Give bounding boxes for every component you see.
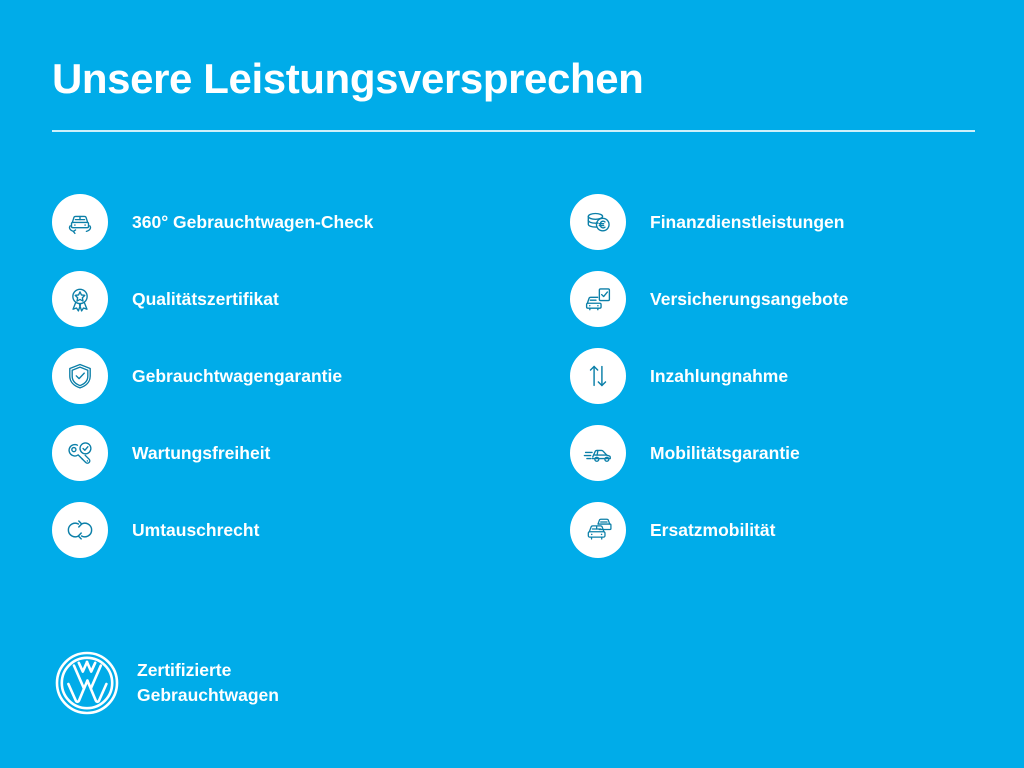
exchange-arrows-icon bbox=[52, 502, 108, 558]
benefit-label: Wartungsfreiheit bbox=[132, 443, 270, 464]
two-cars-icon bbox=[570, 502, 626, 558]
benefits-grid: 360° Gebrauchtwagen-Check Qualitätszerti… bbox=[0, 194, 1024, 558]
benefit-item[interactable]: Wartungsfreiheit bbox=[52, 425, 522, 481]
benefit-label: Gebrauchtwagengarantie bbox=[132, 366, 342, 387]
benefit-item[interactable]: Gebrauchtwagengarantie bbox=[52, 348, 522, 404]
benefit-item[interactable]: Versicherungsangebote bbox=[570, 271, 1000, 327]
benefit-item[interactable]: 360° Gebrauchtwagen-Check bbox=[52, 194, 522, 250]
benefit-label: Finanzdienstleistungen bbox=[650, 212, 844, 233]
shield-check-icon bbox=[52, 348, 108, 404]
benefit-label: Versicherungsangebote bbox=[650, 289, 848, 310]
benefit-label: Ersatzmobilität bbox=[650, 520, 775, 541]
brand-lockup: Zertifizierte Gebrauchtwagen bbox=[52, 648, 279, 718]
benefit-label: 360° Gebrauchtwagen-Check bbox=[132, 212, 373, 233]
benefits-right-column: Finanzdienstleistungen bbox=[570, 194, 1000, 558]
benefit-label: Umtauschrecht bbox=[132, 520, 259, 541]
coins-euro-icon bbox=[570, 194, 626, 250]
benefit-item[interactable]: Umtauschrecht bbox=[52, 502, 522, 558]
brand-text: Zertifizierte Gebrauchtwagen bbox=[137, 658, 279, 709]
benefit-item[interactable]: Finanzdienstleistungen bbox=[570, 194, 1000, 250]
arrows-up-down-icon bbox=[570, 348, 626, 404]
benefits-left-column: 360° Gebrauchtwagen-Check Qualitätszerti… bbox=[52, 194, 522, 558]
benefit-item[interactable]: Inzahlungnahme bbox=[570, 348, 1000, 404]
title-divider bbox=[52, 130, 975, 132]
benefit-item[interactable]: Ersatzmobilität bbox=[570, 502, 1000, 558]
car-360-check-icon bbox=[52, 194, 108, 250]
car-document-check-icon bbox=[570, 271, 626, 327]
promise-poster: Unsere Leistungsversprechen bbox=[0, 0, 1024, 768]
brand-text-line2: Gebrauchtwagen bbox=[137, 683, 279, 708]
award-ribbon-star-icon bbox=[52, 271, 108, 327]
benefit-item[interactable]: Qualitätszertifikat bbox=[52, 271, 522, 327]
page-title: Unsere Leistungsversprechen bbox=[52, 56, 643, 101]
volkswagen-logo bbox=[52, 648, 122, 718]
benefit-item[interactable]: Mobilitätsgarantie bbox=[570, 425, 1000, 481]
benefit-label: Inzahlungnahme bbox=[650, 366, 788, 387]
benefit-label: Qualitätszertifikat bbox=[132, 289, 279, 310]
benefit-label: Mobilitätsgarantie bbox=[650, 443, 800, 464]
car-motion-icon bbox=[570, 425, 626, 481]
brand-text-line1: Zertifizierte bbox=[137, 658, 279, 683]
wrench-check-icon bbox=[52, 425, 108, 481]
